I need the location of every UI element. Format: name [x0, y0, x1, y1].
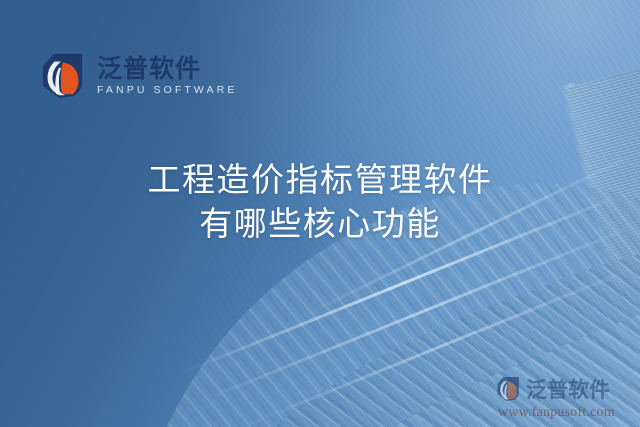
logo-company-name-cn: 泛普软件 [97, 56, 237, 81]
headline-line-2: 有哪些核心功能 [0, 202, 640, 246]
fanpu-watermark-mark-icon [496, 376, 522, 402]
headline-line-1: 工程造价指标管理软件 [0, 158, 640, 202]
watermark-company-name: 泛普软件 [526, 374, 610, 404]
logo-company-name-en: FANPU SOFTWARE [97, 85, 237, 96]
headline: 工程造价指标管理软件 有哪些核心功能 [0, 158, 640, 246]
promo-banner: 泛普软件 FANPU SOFTWARE 工程造价指标管理软件 有哪些核心功能 泛… [0, 0, 640, 427]
fanpu-logo-mark-icon [40, 52, 88, 100]
watermark-logo-row: 泛普软件 [496, 374, 636, 404]
watermark: 泛普软件 www.fanpusoft.com [496, 374, 636, 421]
watermark-url: www.fanpusoft.com [496, 405, 636, 421]
brand-logo[interactable]: 泛普软件 FANPU SOFTWARE [40, 52, 237, 100]
logo-wordmark: 泛普软件 FANPU SOFTWARE [97, 56, 237, 96]
sky-glow [200, 0, 640, 300]
